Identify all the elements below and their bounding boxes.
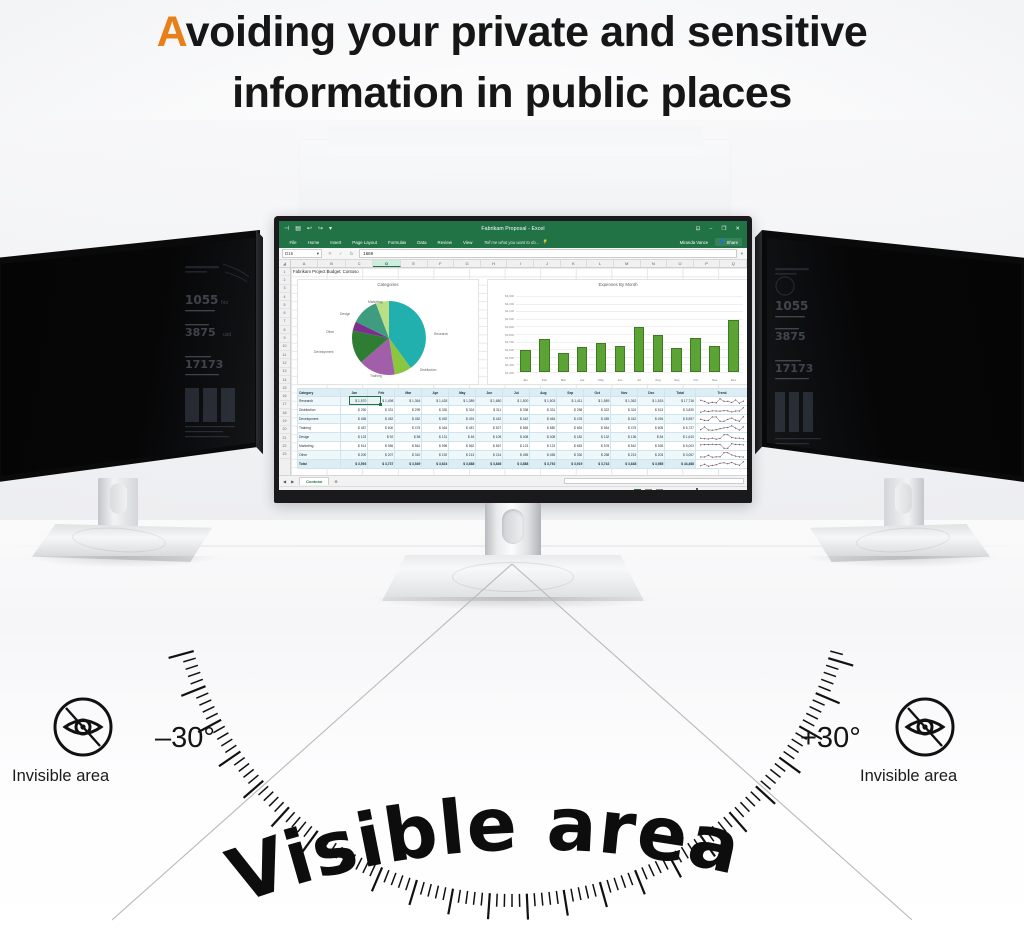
column-header-i[interactable]: I xyxy=(507,260,534,267)
table-cell-value[interactable]: $ 207 xyxy=(368,451,395,460)
eye-crossed-out-icon-left xyxy=(52,696,114,758)
monitor-center-bezel: ⊣ ▤ ↩ ↪ ▾ Fabrikam Proposal - Excel ⊡ − … xyxy=(274,216,752,503)
bar-chart-ytick: $3,300 xyxy=(505,371,514,375)
table-cell-value[interactable]: $ 324 xyxy=(611,406,638,415)
table-cell-value[interactable]: $ 1,503 xyxy=(530,397,557,406)
table-cell-value[interactable]: $ 3,888 xyxy=(503,460,530,469)
zoom-slider-knob[interactable] xyxy=(696,488,698,490)
formula-bar[interactable]: D16 ▾ ✕ ✓ fx 1669 ▾ xyxy=(279,248,747,260)
ribbon-display-options-icon[interactable]: ⊡ xyxy=(696,226,701,232)
formula-value: 1669 xyxy=(363,251,373,256)
table-cell-category[interactable]: Training xyxy=(298,424,341,433)
formula-expand-icon[interactable]: ▾ xyxy=(741,251,747,257)
row-header-5[interactable]: 5 xyxy=(279,301,290,309)
column-header-d[interactable]: D xyxy=(373,260,401,267)
table-row[interactable]: Marketing$ 514$ 556$ 561$ 598$ 562$ 567$… xyxy=(298,442,748,451)
table-cell-value[interactable]: $ 654 xyxy=(557,424,584,433)
angle-label-plus-30: +30° xyxy=(800,722,861,755)
zoom-level-label[interactable]: 100% xyxy=(734,490,743,491)
name-box-value: D16 xyxy=(285,251,293,256)
ribbon-tab-data[interactable]: Data xyxy=(412,240,432,245)
select-all-corner[interactable]: ◢ xyxy=(279,260,291,267)
row-header-2[interactable]: 2 xyxy=(279,276,290,284)
eye-crossed-out-icon-right xyxy=(894,696,956,758)
table-cell-value[interactable]: $ 653 xyxy=(557,442,584,451)
table-cell-value[interactable]: $ 442 xyxy=(476,415,503,424)
protractor-tick xyxy=(813,700,825,705)
new-sheet-icon[interactable]: ⊕ xyxy=(334,479,337,484)
column-header-n[interactable]: N xyxy=(641,260,668,267)
table-cell-value[interactable]: $ 487 xyxy=(341,424,368,433)
table-cell-total[interactable]: $ 3,830 xyxy=(665,406,696,415)
excel-title-bar: ⊣ ▤ ↩ ↪ ▾ Fabrikam Proposal - Excel ⊡ − … xyxy=(279,221,747,236)
protractor-tick xyxy=(181,686,205,696)
bar-feb[interactable] xyxy=(539,339,550,372)
table-row[interactable]: Development$ 465$ 452$ 452$ 492$ 491$ 44… xyxy=(298,415,748,424)
bar-oct[interactable] xyxy=(690,338,701,372)
table-cell-value[interactable]: $ 554 xyxy=(584,424,611,433)
row-header-9[interactable]: 9 xyxy=(279,334,290,342)
ribbon-tab-page-layout[interactable]: Page Layout xyxy=(347,240,383,245)
table-col-jul: Jul xyxy=(503,389,530,397)
selected-cell-highlight xyxy=(349,396,381,405)
protractor-tick xyxy=(766,775,776,783)
table-cell-value[interactable]: $ 3,846 xyxy=(476,460,503,469)
table-cell-value[interactable]: $ 475 xyxy=(611,424,638,433)
protractor-tick xyxy=(169,651,194,658)
table-cell-value[interactable]: $ 465 xyxy=(341,415,368,424)
monitor-right-ghost-content: 1055 3875 17173 xyxy=(769,260,841,460)
bar-chart-gridline: $3,700 xyxy=(516,342,743,343)
table-cell-total[interactable]: $ 6,003 xyxy=(665,442,696,451)
sheet-tab-bar[interactable]: ◀ ▶ Contoso ⊕ xyxy=(279,475,747,486)
bar-xtick-aug: Aug xyxy=(648,378,667,382)
row-header-3[interactable]: 3 xyxy=(279,285,290,293)
column-header-q[interactable]: Q xyxy=(720,260,747,267)
page-break-view-button[interactable] xyxy=(656,489,663,491)
bar-jun[interactable] xyxy=(615,346,626,372)
table-cell-value[interactable]: $ 487 xyxy=(449,424,476,433)
sheet-nav-first-icon[interactable]: ◀ xyxy=(283,479,286,484)
status-text: Ready xyxy=(283,490,294,491)
table-cell-value[interactable]: $ 455 xyxy=(530,451,557,460)
row-header-4[interactable]: 4 xyxy=(279,293,290,301)
table-cell-value[interactable]: $ 442 xyxy=(503,415,530,424)
column-header-k[interactable]: K xyxy=(561,260,588,267)
table-cell-value[interactable]: $ 1,411 xyxy=(557,397,584,406)
table-cell-value[interactable]: $ 250 xyxy=(341,406,368,415)
bar-chart-gridline: $4,100 xyxy=(516,311,743,312)
table-cell-value[interactable]: $ 3,792 xyxy=(530,460,557,469)
protractor-tick xyxy=(788,745,799,752)
row-header-21[interactable]: 21 xyxy=(279,434,290,442)
zoom-in-icon[interactable]: + xyxy=(727,490,729,491)
bar-chart-ytick: $3,400 xyxy=(505,363,514,367)
ribbon-tab-formulas[interactable]: Formulas xyxy=(382,240,411,245)
table-cell-value[interactable]: $ 3,648 xyxy=(611,460,638,469)
protractor-tick xyxy=(217,733,228,740)
account-area[interactable]: Miranda Vance 👤 Share xyxy=(680,238,747,246)
column-header-b[interactable]: B xyxy=(318,260,346,267)
table-cell-value[interactable]: $ 3,624 xyxy=(422,460,449,469)
sheet-tab-contoso[interactable]: Contoso xyxy=(299,477,329,485)
bar-xtick-apr: Apr xyxy=(573,378,592,382)
formula-input[interactable]: 1669 xyxy=(359,249,736,258)
bar-nov[interactable] xyxy=(709,346,720,372)
table-cell-total[interactable]: $ 1,610 xyxy=(665,433,696,442)
row-header-11[interactable]: 11 xyxy=(279,351,290,359)
table-cell-value[interactable]: $ 492 xyxy=(422,415,449,424)
table-col-nov: Nov xyxy=(611,389,638,397)
table-cell-value[interactable]: $ 605 xyxy=(638,424,665,433)
table-cell-total[interactable]: $ 3,057 xyxy=(665,451,696,460)
table-cell-value[interactable]: $ 542 xyxy=(611,442,638,451)
protractor-tick xyxy=(816,693,840,703)
table-cell-value[interactable]: $ 331 xyxy=(530,406,557,415)
formula-bar-buttons[interactable]: ✕ ✓ fx xyxy=(322,251,359,257)
name-box-chevron-down-icon[interactable]: ▾ xyxy=(317,251,319,257)
ribbon-tab-view[interactable]: View xyxy=(457,240,477,245)
table-cell-value[interactable]: $ 214 xyxy=(476,451,503,460)
table-cell-value[interactable]: $ 3,593 xyxy=(341,460,368,469)
row-header-17[interactable]: 17 xyxy=(279,401,290,409)
table-cell-value[interactable]: $ 123 xyxy=(341,433,368,442)
pie-label-development: Development xyxy=(314,350,333,354)
table-cell-value[interactable]: $ 408 xyxy=(530,433,557,442)
excel-application-window: ⊣ ▤ ↩ ↪ ▾ Fabrikam Proposal - Excel ⊡ − … xyxy=(279,221,747,490)
protractor-tick xyxy=(191,679,203,684)
column-header-a[interactable]: A xyxy=(291,260,319,267)
row-header-14[interactable]: 14 xyxy=(279,376,290,384)
row-headers[interactable]: 1234567891011121314151617181920212223 xyxy=(279,268,291,475)
table-cell-value[interactable]: $ 478 xyxy=(557,415,584,424)
column-header-j[interactable]: J xyxy=(534,260,561,267)
table-cell-value[interactable]: $ 556 xyxy=(368,442,395,451)
protractor-tick xyxy=(183,658,195,662)
page-title: Avoiding your private and sensitive info… xyxy=(0,0,1024,124)
table-row[interactable]: Training$ 487$ 600$ 475$ 464$ 487$ 527$ … xyxy=(298,424,748,433)
row-header-20[interactable]: 20 xyxy=(279,426,290,434)
table-cell-value[interactable]: $ 464 xyxy=(530,415,557,424)
table-cell-value[interactable]: $ 452 xyxy=(395,415,422,424)
table-col-trend: Trend xyxy=(696,389,748,397)
worksheet-grid[interactable]: Fabrikam Project Budget: Contoso Categor… xyxy=(291,268,747,475)
name-box[interactable]: D16 ▾ xyxy=(282,249,322,258)
table-cell-category[interactable]: Total xyxy=(298,460,341,469)
column-header-o[interactable]: O xyxy=(667,260,694,267)
monitor-left-cable-slot xyxy=(110,483,127,514)
insert-function-icon[interactable]: fx xyxy=(350,251,354,256)
bar-jan[interactable] xyxy=(520,350,531,372)
table-cell-total[interactable]: $ 17,716 xyxy=(665,397,696,406)
table-cell-value[interactable]: $ 213 xyxy=(449,451,476,460)
table-cell-value[interactable]: $ 203 xyxy=(638,451,665,460)
invisible-area-label-right: Invisible area xyxy=(860,767,957,786)
svg-text:17173: 17173 xyxy=(775,362,813,375)
view-buttons[interactable]: − + 100% xyxy=(634,489,743,491)
table-cell-value[interactable]: $ 46 xyxy=(449,433,476,442)
table-cell-total[interactable]: $ 44,468 xyxy=(665,460,696,469)
ribbon-tab-home[interactable]: Home xyxy=(302,240,325,245)
table-cell-value[interactable]: $ 567 xyxy=(476,442,503,451)
normal-view-button[interactable] xyxy=(634,489,641,491)
column-headers[interactable]: ◢ A B C D E F G H I J K L M N O P xyxy=(279,260,747,268)
table-cell-value[interactable]: $ 3,688 xyxy=(449,460,476,469)
minimize-icon[interactable]: − xyxy=(709,226,712,232)
bar-chart-gridline: $3,800 xyxy=(516,334,743,335)
table-cell-value[interactable]: $ 338 xyxy=(503,406,530,415)
table-cell-value[interactable]: $ 528 xyxy=(638,442,665,451)
protractor-tick xyxy=(828,658,853,665)
monitor-left-screen-dark: 1055 hrs 3875 usd 17173 xyxy=(1,238,255,476)
protractor-tick xyxy=(244,769,254,777)
table-cell-value[interactable]: $ 578 xyxy=(584,442,611,451)
angle-label-minus-30: –30° xyxy=(155,722,215,755)
table-cell-value[interactable]: $ 580 xyxy=(530,424,557,433)
share-label: Share xyxy=(727,240,738,245)
table-cell-value[interactable]: $ 105 xyxy=(476,433,503,442)
protractor-tick xyxy=(248,775,258,783)
svg-text:hrs: hrs xyxy=(221,300,228,306)
table-cell-value[interactable]: $ 452 xyxy=(368,415,395,424)
bar-jul[interactable] xyxy=(634,327,645,372)
cancel-icon[interactable]: ✕ xyxy=(328,251,332,257)
protractor-tick xyxy=(213,726,224,732)
monitor-right-bezel: 1055 3875 17173 xyxy=(762,230,1024,482)
table-cell-value[interactable]: $ 324 xyxy=(449,406,476,415)
table-cell-value[interactable]: $ 1,428 xyxy=(422,397,449,406)
row-header-10[interactable]: 10 xyxy=(279,343,290,351)
bar-xtick-oct: Oct xyxy=(686,378,705,382)
table-row[interactable]: Total$ 3,593$ 3,737$ 3,549$ 3,624$ 3,688… xyxy=(298,460,748,469)
table-cell-value[interactable]: $ 192 xyxy=(422,451,449,460)
table-cell-value[interactable]: $ 3,549 xyxy=(395,460,422,469)
table-cell-value[interactable]: $ 561 xyxy=(395,442,422,451)
table-cell-value[interactable]: $ 3,985 xyxy=(638,460,665,469)
bar-sep[interactable] xyxy=(671,348,682,372)
table-cell-value[interactable]: $ 331 xyxy=(368,406,395,415)
table-cell-value[interactable]: $ 258 xyxy=(584,451,611,460)
column-header-p[interactable]: P xyxy=(694,260,721,267)
column-header-l[interactable]: L xyxy=(587,260,614,267)
table-cell-category[interactable]: Distribution xyxy=(298,406,341,415)
table-cell-value[interactable]: $ 514 xyxy=(341,442,368,451)
table-cell-value[interactable]: $ 1,500 xyxy=(503,397,530,406)
svg-text:1055: 1055 xyxy=(775,299,808,313)
table-cell-value[interactable]: $ 58 xyxy=(395,433,422,442)
table-cell-value[interactable]: $ 598 xyxy=(422,442,449,451)
row-header-1[interactable]: 1 xyxy=(279,268,290,276)
table-cell-value[interactable]: $ 1,389 xyxy=(449,397,476,406)
protractor-tick xyxy=(188,672,200,676)
table-cell-sparkline xyxy=(696,406,748,415)
ribbon-tab-review[interactable]: Review xyxy=(432,240,457,245)
table-col-oct: Oct xyxy=(584,389,611,397)
table-row[interactable]: Design$ 123$ 92$ 58$ 131$ 46$ 105$ 408$ … xyxy=(298,433,748,442)
bar-chart-expenses-by-month[interactable]: Expenses By Month $4,300$4,200$4,100$4,0… xyxy=(487,279,747,385)
table-cell-value[interactable]: $ 123 xyxy=(503,442,530,451)
table-cell-value[interactable]: $ 1,515 xyxy=(638,397,665,406)
row-header-13[interactable]: 13 xyxy=(279,368,290,376)
bar-chart-gridline: $3,300 xyxy=(516,372,743,373)
svg-text:3875: 3875 xyxy=(185,326,216,339)
table-cell-value[interactable]: $ 200 xyxy=(341,451,368,460)
visible-area-label: Visible area xyxy=(210,790,830,935)
protractor-tick xyxy=(203,707,215,713)
table-cell-sparkline xyxy=(696,415,748,424)
pie-label-other: Other xyxy=(326,330,334,334)
table-body[interactable]: Research$ 1,570$ 1,498$ 1,364$ 1,428$ 1,… xyxy=(298,397,748,469)
bar-chart-gridline: $3,900 xyxy=(516,326,743,327)
bar-apr[interactable] xyxy=(577,347,588,372)
bar-may[interactable] xyxy=(596,343,607,372)
worksheet-body[interactable]: 1234567891011121314151617181920212223 Fa… xyxy=(279,268,747,475)
column-header-g[interactable]: G xyxy=(454,260,481,267)
table-cell-value[interactable]: $ 565 xyxy=(503,424,530,433)
table-cell-value[interactable]: $ 311 xyxy=(476,406,503,415)
table-cell-value[interactable]: $ 84 xyxy=(638,433,665,442)
row-header-23[interactable]: 23 xyxy=(279,451,290,459)
column-header-h[interactable]: H xyxy=(481,260,508,267)
close-icon[interactable]: ✕ xyxy=(735,226,740,232)
table-cell-sparkline xyxy=(696,397,748,406)
table-cell-value[interactable]: $ 1,589 xyxy=(584,397,611,406)
protractor-tick xyxy=(186,665,198,669)
table-col-may: May xyxy=(449,389,476,397)
table-cell-value[interactable]: $ 330 xyxy=(557,451,584,460)
row-header-22[interactable]: 22 xyxy=(279,442,290,450)
pie-label-training: Training xyxy=(370,374,382,378)
column-header-m[interactable]: M xyxy=(614,260,641,267)
table-cell-value[interactable]: $ 182 xyxy=(557,433,584,442)
table-cell-value[interactable]: $ 123 xyxy=(530,442,557,451)
table-cell-value[interactable]: $ 213 xyxy=(611,451,638,460)
svg-text:usd: usd xyxy=(223,332,231,338)
table-cell-value[interactable]: $ 455 xyxy=(584,415,611,424)
bar-aug[interactable] xyxy=(653,335,664,372)
monitor-center-screen: ⊣ ▤ ↩ ↪ ▾ Fabrikam Proposal - Excel ⊡ − … xyxy=(279,221,747,490)
tell-me-search[interactable]: Tell me what you want to do... 💡 xyxy=(484,239,547,245)
table-cell-value[interactable]: $ 131 xyxy=(422,433,449,442)
table-cell-value[interactable]: $ 3,742 xyxy=(584,460,611,469)
table-col-jun: Jun xyxy=(476,389,503,397)
table-cell-value[interactable]: $ 310 xyxy=(395,451,422,460)
headline-accent-letter: A xyxy=(157,8,186,56)
ribbon-tab-insert[interactable]: Insert xyxy=(325,240,347,245)
table-cell-value[interactable]: $ 322 xyxy=(584,406,611,415)
bar-dec[interactable] xyxy=(728,320,739,372)
table-cell-value[interactable]: $ 1,680 xyxy=(476,397,503,406)
table-cell-category[interactable]: Design xyxy=(298,433,341,442)
row-header-12[interactable]: 12 xyxy=(279,359,290,367)
table-cell-value[interactable]: $ 3,737 xyxy=(368,460,395,469)
row-header-7[interactable]: 7 xyxy=(279,318,290,326)
table-cell-value[interactable]: $ 562 xyxy=(449,442,476,451)
bar-xtick-jan: Jan xyxy=(516,378,535,382)
row-header-15[interactable]: 15 xyxy=(279,384,290,392)
table-cell-value[interactable]: $ 513 xyxy=(638,406,665,415)
bar-xtick-sep: Sep xyxy=(667,378,686,382)
bar-chart-plot-area: $4,300$4,200$4,100$4,000$3,900$3,800$3,7… xyxy=(516,296,743,372)
sheet-nav-prev-icon[interactable]: ▶ xyxy=(291,479,294,484)
table-cell-value[interactable]: $ 299 xyxy=(395,406,422,415)
table-cell-value[interactable]: $ 132 xyxy=(584,433,611,442)
protractor-tick xyxy=(779,758,800,773)
table-cell-value[interactable]: $ 464 xyxy=(422,424,449,433)
protractor-tick xyxy=(806,713,818,719)
row-header-16[interactable]: 16 xyxy=(279,392,290,400)
ribbon-tab-file[interactable]: File xyxy=(284,240,302,245)
table-cell-value[interactable]: $ 330 xyxy=(422,406,449,415)
table-cell-category[interactable]: Other xyxy=(298,451,341,460)
excel-ribbon-tabs[interactable]: File Home Insert Page Layout Formulas Da… xyxy=(279,236,747,248)
table-row[interactable]: Other$ 200$ 207$ 310$ 192$ 213$ 214$ 455… xyxy=(298,451,748,460)
table-cell-value[interactable]: $ 1,364 xyxy=(395,397,422,406)
cell-a1[interactable]: Fabrikam Project Budget: Contoso xyxy=(293,269,359,274)
table-cell-value[interactable]: $ 442 xyxy=(611,415,638,424)
svg-text:1055: 1055 xyxy=(185,293,218,307)
table-cell-value[interactable]: $ 491 xyxy=(449,415,476,424)
bar-chart-title: Expenses By Month xyxy=(488,280,747,287)
monitor-right-side-edge xyxy=(755,230,762,482)
page-layout-view-button[interactable] xyxy=(645,489,652,491)
column-header-c[interactable]: C xyxy=(346,260,374,267)
table-cell-category[interactable]: Development xyxy=(298,415,341,424)
table-cell-category[interactable]: Research xyxy=(298,397,341,406)
table-cell-value[interactable]: $ 136 xyxy=(611,433,638,442)
table-row[interactable]: Distribution$ 250$ 331$ 299$ 330$ 324$ 3… xyxy=(298,406,748,415)
protractor-tick xyxy=(196,693,208,698)
bar-xtick-dec: Dec xyxy=(724,378,743,382)
bar-chart-gridline: $4,000 xyxy=(516,319,743,320)
table-cell-value[interactable]: $ 600 xyxy=(368,424,395,433)
pie-label-distribution: Distribution xyxy=(420,368,437,372)
table-cell-value[interactable]: $ 3,919 xyxy=(557,460,584,469)
row-header-18[interactable]: 18 xyxy=(279,409,290,417)
enter-icon[interactable]: ✓ xyxy=(339,251,343,257)
table-cell-total[interactable]: $ 5,597 xyxy=(665,415,696,424)
table-cell-value[interactable]: $ 1,362 xyxy=(611,397,638,406)
table-cell-sparkline xyxy=(696,442,748,451)
table-cell-value[interactable]: $ 455 xyxy=(503,451,530,460)
table-cell-value[interactable]: $ 408 xyxy=(503,433,530,442)
row-header-19[interactable]: 19 xyxy=(279,417,290,425)
restore-icon[interactable]: ❐ xyxy=(721,226,726,232)
zoom-out-icon[interactable]: − xyxy=(667,490,669,491)
table-cell-category[interactable]: Marketing xyxy=(298,442,341,451)
table-cell-value[interactable]: $ 92 xyxy=(368,433,395,442)
column-header-e[interactable]: E xyxy=(401,260,428,267)
person-icon: 👤 xyxy=(719,239,724,245)
row-header-6[interactable]: 6 xyxy=(279,309,290,317)
table-cell-value[interactable]: $ 527 xyxy=(476,424,503,433)
pie-chart-categories[interactable]: Categories xyxy=(297,279,479,385)
table-cell-total[interactable]: $ 6,727 xyxy=(665,424,696,433)
table-cell-value[interactable]: $ 494 xyxy=(638,415,665,424)
table-cell-value[interactable]: $ 475 xyxy=(395,424,422,433)
bar-mar[interactable] xyxy=(558,353,569,372)
horizontal-scrollbar[interactable] xyxy=(564,478,744,484)
lightbulb-icon: 💡 xyxy=(542,239,547,245)
share-button[interactable]: 👤 Share xyxy=(715,238,742,246)
bar-chart-gridline: $4,200 xyxy=(516,304,743,305)
row-header-8[interactable]: 8 xyxy=(279,326,290,334)
pie-label-design: Design xyxy=(340,312,350,316)
bar-xtick-jun: Jun xyxy=(611,378,630,382)
column-header-f[interactable]: F xyxy=(428,260,455,267)
table-cell-value[interactable]: $ 258 xyxy=(557,406,584,415)
account-name[interactable]: Miranda Vance xyxy=(680,240,709,245)
